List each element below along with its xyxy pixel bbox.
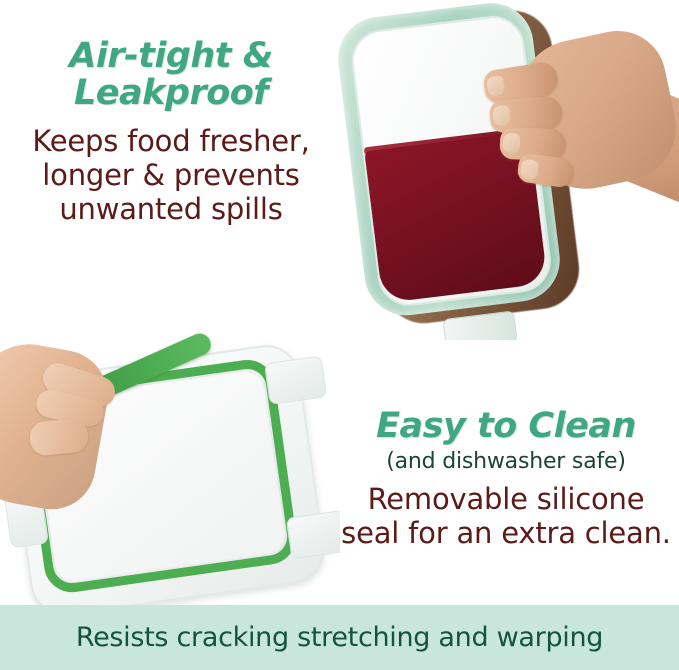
fingernail xyxy=(492,105,510,126)
fingernail xyxy=(486,75,506,97)
lid-latch-bottom-right xyxy=(286,510,340,560)
fingernail xyxy=(520,159,540,181)
airtight-headline: Air-tight & Leakproof xyxy=(6,38,336,112)
hand-peeling-seal xyxy=(0,336,160,536)
lid-latch-top-right xyxy=(264,355,327,405)
fingernail xyxy=(503,133,521,154)
bottom-banner: Resists cracking stretching and warping xyxy=(0,605,679,670)
airtight-body-text: Keeps food fresher, longer & prevents un… xyxy=(6,125,336,227)
photo-peel-seal xyxy=(0,330,340,615)
product-infographic: Air-tight & Leakproof Keeps food fresher… xyxy=(0,0,679,670)
easyclean-headline: Easy to Clean xyxy=(337,408,675,445)
easyclean-body-text: Removable silicone seal for an extra cle… xyxy=(337,483,675,551)
photo-held-container xyxy=(330,0,679,340)
banner-text: Resists cracking stretching and warping xyxy=(76,622,603,653)
easyclean-subtitle: (and dishwasher safe) xyxy=(337,449,675,475)
feature-block-airtight: Air-tight & Leakproof Keeps food fresher… xyxy=(6,38,336,227)
hand-holding-container xyxy=(478,18,679,248)
feature-block-easyclean: Easy to Clean (and dishwasher safe) Remo… xyxy=(337,408,675,551)
